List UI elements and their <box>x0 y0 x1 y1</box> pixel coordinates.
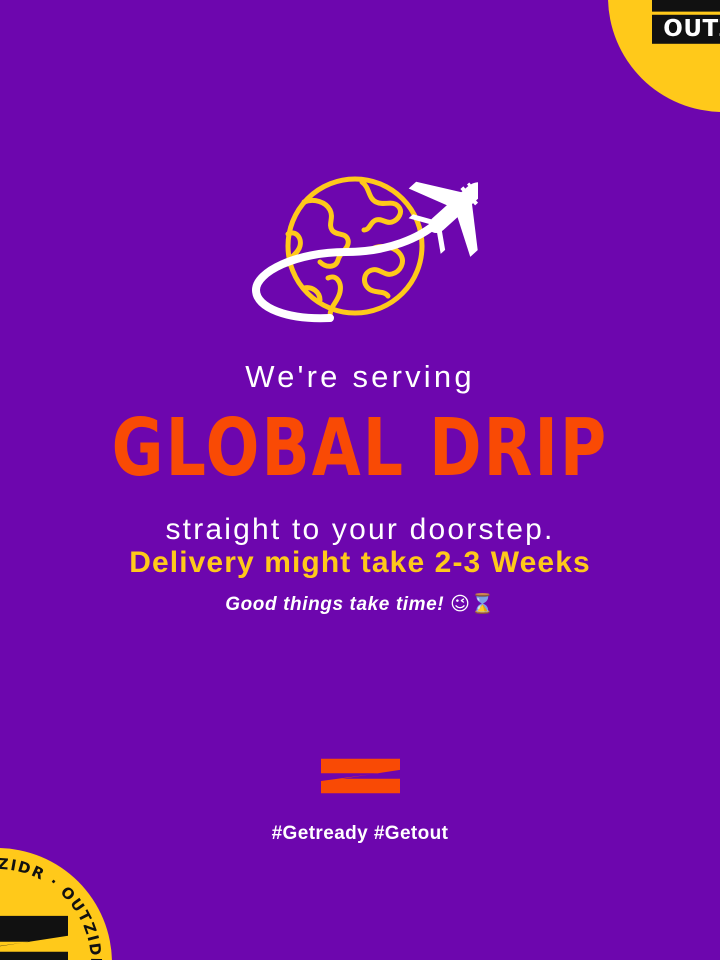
footer-lockup: #Getready #Getout <box>0 745 720 845</box>
badge-core: OUTZIDR <box>0 916 68 960</box>
z-mark-icon <box>652 0 720 12</box>
footer-tagline: #Getready #Getout <box>0 823 720 845</box>
delivery-subtext-label: Good things take time! <box>225 594 444 615</box>
badge-wordmark: OUTZIDR <box>652 15 720 44</box>
delivery-time-text: Delivery might take 2-3 Weeks <box>0 546 720 581</box>
outzidr-z-logo-icon <box>321 745 400 807</box>
wink-hourglass-emoji: 😉⌛ <box>450 593 495 615</box>
brand-badge-top-right: OUTZIDR · OUTZIDR · OUTZIDR · OUTZIDR · … <box>608 0 720 112</box>
globe-airplane-icon <box>242 168 478 336</box>
z-mark-icon <box>0 916 68 960</box>
headline-emphasis: GLOBAL DRIP <box>0 406 720 489</box>
delivery-notice: Delivery might take 2-3 Weeks Good thing… <box>0 546 720 616</box>
airplane-icon <box>394 168 478 270</box>
headline-block: We're serving GLOBAL DRIP straight to yo… <box>0 360 720 546</box>
headline-subline: straight to your doorstep. <box>0 513 720 546</box>
delivery-subtext: Good things take time! 😉⌛ <box>0 593 720 617</box>
badge-core: OUTZIDR <box>652 0 720 44</box>
headline-kicker: We're serving <box>0 360 720 394</box>
hero-illustration <box>0 168 720 336</box>
brand-badge-bottom-left: OUTZIDR · OUTZIDR · OUTZIDR · OUTZIDR · … <box>0 848 112 960</box>
promo-poster: OUTZIDR · OUTZIDR · OUTZIDR · OUTZIDR · … <box>0 0 720 960</box>
